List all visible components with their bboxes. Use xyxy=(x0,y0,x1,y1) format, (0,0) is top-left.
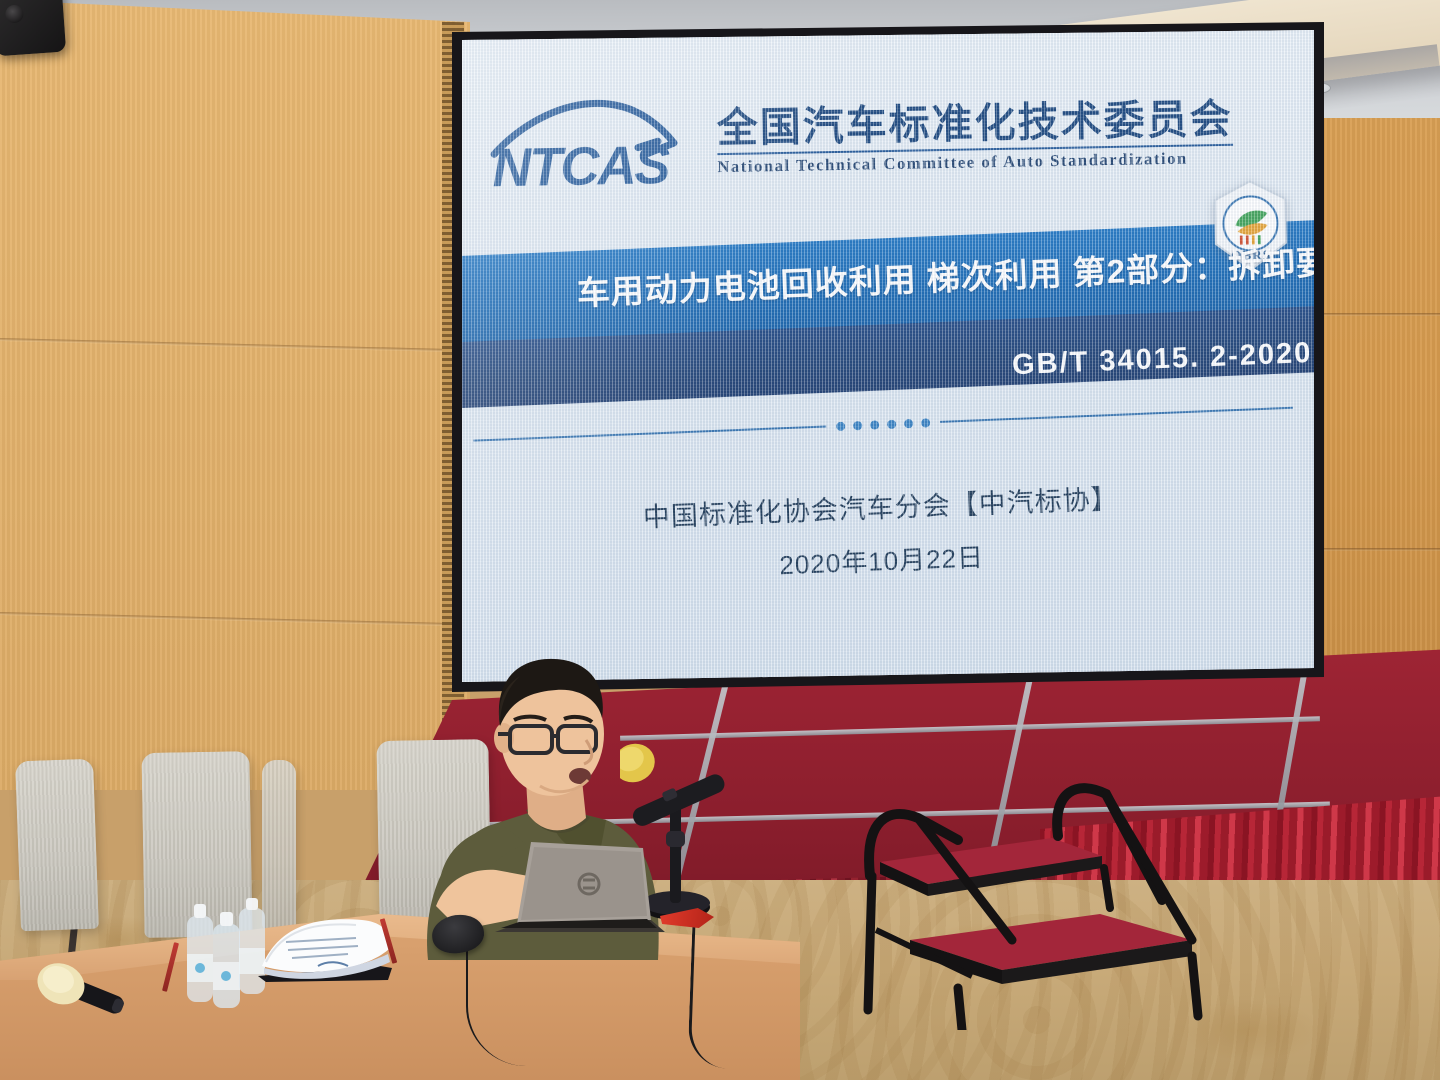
organization-names: 全国汽车标准化技术委员会 National Technical Committe… xyxy=(716,97,1233,177)
divider-dots xyxy=(826,417,940,431)
stage-steps xyxy=(862,780,1242,1030)
divider-dot xyxy=(853,421,862,430)
ceiling-speaker-icon xyxy=(0,0,66,56)
slide-divider xyxy=(473,400,1293,449)
wall-seam xyxy=(0,338,470,352)
divider-dot xyxy=(836,421,845,430)
photo-scene: NTCAS 全国汽车标准化技术委员会 National Technical Co… xyxy=(0,0,1440,1080)
org-name-cn: 全国汽车标准化技术委员会 xyxy=(716,97,1233,150)
chair xyxy=(15,759,99,932)
wall-seam xyxy=(1320,548,1440,551)
slide-header: NTCAS 全国汽车标准化技术委员会 National Technical Co… xyxy=(487,70,1129,212)
divider-dot xyxy=(904,418,913,427)
handheld-microphone[interactable] xyxy=(28,955,128,1035)
divider-dot xyxy=(921,418,930,427)
presentation-slide: NTCAS 全国汽车标准化技术委员会 National Technical Co… xyxy=(462,30,1314,682)
svg-text:NTCAS: NTCAS xyxy=(492,135,671,198)
laptop[interactable] xyxy=(495,828,665,938)
wall-seam xyxy=(0,612,470,626)
wall-seam xyxy=(1320,313,1440,316)
divider-line-left xyxy=(473,425,826,441)
divider-line-right xyxy=(940,407,1293,423)
led-screen[interactable]: NTCAS 全国汽车标准化技术委员会 National Technical Co… xyxy=(462,30,1314,682)
microphone-cable xyxy=(687,917,735,1068)
ntcas-logo: NTCAS xyxy=(487,90,704,198)
divider-dot xyxy=(870,420,879,429)
divider-dot xyxy=(887,419,896,428)
wood-wall-right xyxy=(1320,118,1440,718)
